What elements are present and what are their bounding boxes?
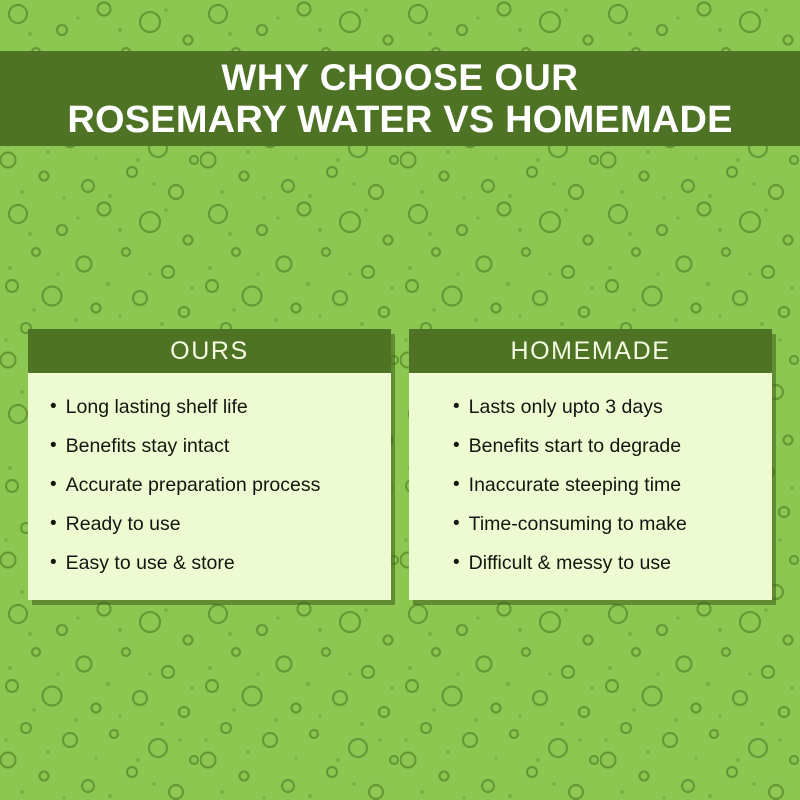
list-item-label: Easy to use & store	[66, 551, 391, 575]
bullet-dot-icon: •	[453, 473, 460, 497]
bullet-dot-icon: •	[453, 395, 460, 419]
comparison-card-ours: OURS • Long lasting shelf life • Benefit…	[28, 329, 391, 600]
card-header-label-ours: OURS	[170, 337, 249, 366]
list-item: • Long lasting shelf life	[28, 387, 391, 426]
card-header-ours: OURS	[28, 329, 391, 373]
list-item-label: Inaccurate steeping time	[469, 473, 772, 497]
comparison-columns: OURS • Long lasting shelf life • Benefit…	[0, 329, 800, 589]
card-header-homemade: HOMEMADE	[409, 329, 772, 373]
bullet-dot-icon: •	[453, 512, 460, 536]
card-body-homemade: • Lasts only upto 3 days • Benefits star…	[409, 373, 772, 600]
comparison-card-homemade: HOMEMADE • Lasts only upto 3 days • Bene…	[409, 329, 772, 600]
benefit-list-ours: • Long lasting shelf life • Benefits sta…	[28, 387, 391, 582]
card-body-ours: • Long lasting shelf life • Benefits sta…	[28, 373, 391, 600]
list-item: • Easy to use & store	[28, 543, 391, 582]
list-item: • Accurate preparation process	[28, 465, 391, 504]
poster-title-band: WHY CHOOSE OUR ROSEMARY WATER VS HOMEMAD…	[0, 51, 800, 146]
list-item-label: Ready to use	[66, 512, 391, 536]
list-item-label: Benefits stay intact	[66, 434, 391, 458]
page-title-line-1: WHY CHOOSE OUR	[221, 57, 578, 99]
list-item-label: Time-consuming to make	[469, 512, 772, 536]
bullet-dot-icon: •	[453, 551, 460, 575]
bullet-dot-icon: •	[50, 512, 57, 536]
list-item: • Ready to use	[28, 504, 391, 543]
bullet-dot-icon: •	[50, 551, 57, 575]
list-item: • Time-consuming to make	[409, 504, 772, 543]
bullet-dot-icon: •	[50, 395, 57, 419]
list-item-label: Long lasting shelf life	[66, 395, 391, 419]
list-item: • Lasts only upto 3 days	[409, 387, 772, 426]
list-item-label: Difficult & messy to use	[469, 551, 772, 575]
list-item-label: Lasts only upto 3 days	[469, 395, 772, 419]
list-item: • Difficult & messy to use	[409, 543, 772, 582]
list-item-label: Benefits start to degrade	[469, 434, 772, 458]
card-header-label-homemade: HOMEMADE	[510, 337, 670, 366]
list-item: • Benefits start to degrade	[409, 426, 772, 465]
bullet-dot-icon: •	[50, 434, 57, 458]
bullet-dot-icon: •	[453, 434, 460, 458]
page-title-line-2: ROSEMARY WATER VS HOMEMADE	[67, 99, 732, 141]
list-item: • Inaccurate steeping time	[409, 465, 772, 504]
comparison-poster: WHY CHOOSE OUR ROSEMARY WATER VS HOMEMAD…	[0, 0, 800, 800]
drawback-list-homemade: • Lasts only upto 3 days • Benefits star…	[409, 387, 772, 582]
bullet-dot-icon: •	[50, 473, 57, 497]
list-item: • Benefits stay intact	[28, 426, 391, 465]
list-item-label: Accurate preparation process	[66, 473, 391, 497]
